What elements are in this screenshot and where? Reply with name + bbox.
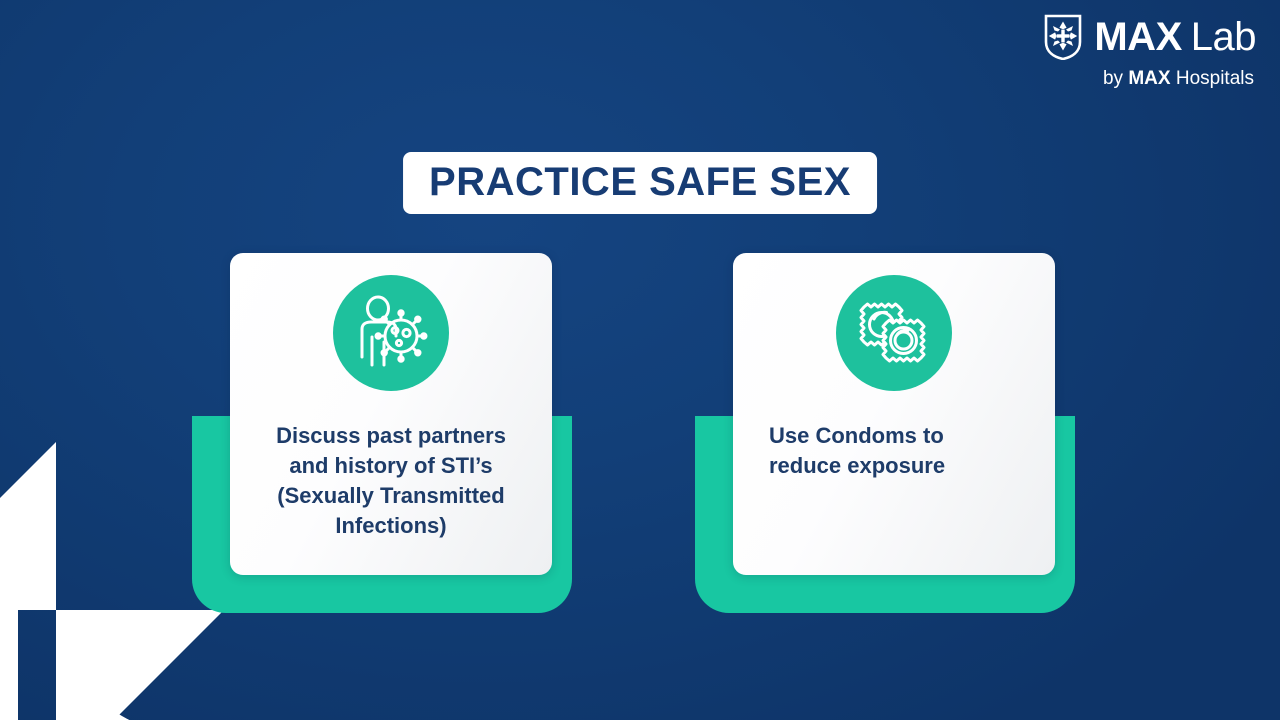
card-panel-1: Discuss past partners and history of STI… bbox=[230, 253, 552, 575]
brand-logo: MAXLab by MAX Hospitals bbox=[1044, 14, 1256, 88]
logo-brand-light: Lab bbox=[1191, 15, 1256, 59]
person-with-virus-icon-badge bbox=[333, 275, 449, 391]
logo-tagline-suffix: Hospitals bbox=[1171, 68, 1254, 89]
title-plate: PRACTICE SAFE SEX bbox=[403, 152, 877, 214]
slide-canvas: MAXLab by MAX Hospitals PRACTICE SAFE SE… bbox=[0, 0, 1280, 720]
card-2-text: Use Condoms to reduce exposure bbox=[733, 421, 1055, 481]
condom-packets-icon bbox=[856, 295, 932, 371]
info-card-2[interactable]: Use Condoms to reduce exposure bbox=[695, 253, 1075, 613]
logo-tagline-bold: MAX bbox=[1128, 68, 1170, 89]
logo-brand-bold: MAX bbox=[1094, 15, 1181, 59]
person-with-virus-icon bbox=[352, 294, 430, 372]
logo-tagline-prefix: by bbox=[1103, 68, 1128, 89]
logo-tagline: by MAX Hospitals bbox=[1103, 69, 1254, 88]
info-card-1[interactable]: Discuss past partners and history of STI… bbox=[192, 253, 572, 613]
card-row: Discuss past partners and history of STI… bbox=[0, 253, 1280, 623]
condom-packets-icon-badge bbox=[836, 275, 952, 391]
logo-top-row: MAXLab bbox=[1044, 14, 1256, 60]
card-1-text: Discuss past partners and history of STI… bbox=[262, 421, 520, 542]
card-panel-2: Use Condoms to reduce exposure bbox=[733, 253, 1055, 575]
logo-wordmark: MAXLab bbox=[1094, 17, 1256, 57]
page-title: PRACTICE SAFE SEX bbox=[429, 161, 851, 203]
max-shield-star-icon bbox=[1044, 14, 1082, 60]
